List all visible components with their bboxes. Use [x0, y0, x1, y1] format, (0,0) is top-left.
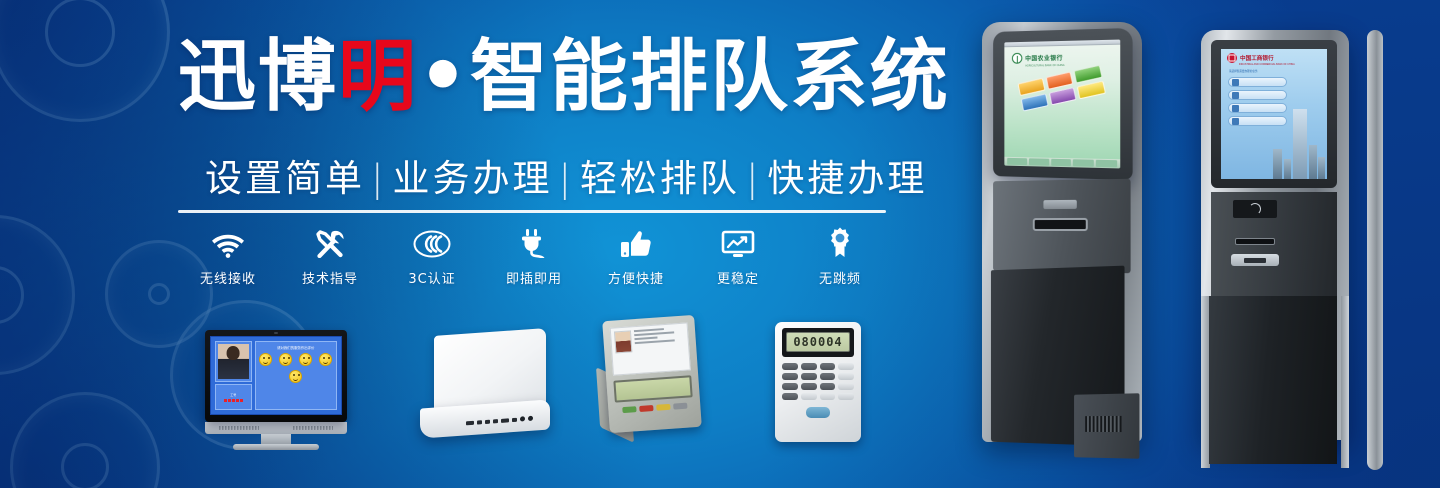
- keypad-enter-button[interactable]: [806, 407, 830, 418]
- title-highlight: 明: [338, 32, 418, 122]
- staff-name-card: 工号: [215, 384, 252, 410]
- emoji-face-icon[interactable]: [319, 353, 332, 366]
- product-showcase: 工号 请对我们的服务作出评价: [0, 310, 900, 470]
- kiosk-icbc-body: [1209, 296, 1337, 464]
- product-desk-evaluator: [598, 318, 704, 440]
- service-tile-grid[interactable]: [1018, 65, 1107, 112]
- feature-label: 方便快捷: [608, 268, 664, 287]
- vent-grille: [1085, 416, 1121, 432]
- emoji-face-icon[interactable]: [289, 370, 302, 383]
- avatar: [218, 344, 249, 379]
- plug-icon: [518, 222, 550, 258]
- banner-subtitle: 设置简单|业务办理|轻松排队|快捷办理: [205, 148, 927, 202]
- ticket-slot: [1235, 238, 1275, 245]
- rating-prompt: 请对我们的服务作出评价: [277, 345, 314, 350]
- kiosk-icbc-edge-right: [1341, 296, 1349, 468]
- header-divider: [178, 210, 886, 213]
- feature-item-stable: 更稳定: [688, 222, 788, 287]
- monitor-speaker-bar: [205, 422, 347, 434]
- subtitle-item-3: 快捷办理: [767, 157, 927, 200]
- queue-number-display: 080004: [793, 335, 842, 349]
- skyline-graphic: [1273, 105, 1325, 179]
- nfc-reader-icon[interactable]: [1233, 200, 1277, 218]
- feature-label: 3C认证: [408, 268, 455, 287]
- menu-item[interactable]: [1228, 77, 1287, 87]
- feature-label: 技术指导: [302, 268, 358, 287]
- title-part-2: 智能排队系统: [470, 32, 950, 122]
- kiosk-icbc-screen[interactable]: 中国工商银行 INDUSTRIAL AND COMMERCIAL BANK OF…: [1221, 49, 1327, 179]
- staff-panel: 工号: [215, 341, 252, 410]
- bank-name: 中国农业银行: [1025, 53, 1063, 63]
- evaluator-info-card: [610, 322, 691, 375]
- ccc-icon: [413, 222, 451, 258]
- ribbon-award-icon: [826, 222, 854, 258]
- evaluator-body: [602, 315, 702, 433]
- rating-stars: [224, 399, 243, 402]
- emoji-face-icon[interactable]: [299, 353, 312, 366]
- screen-bottom-bar: [1004, 157, 1120, 169]
- product-host-controller: [420, 332, 550, 442]
- feature-item-convenient: 方便快捷: [586, 222, 686, 287]
- evaluator-key-row[interactable]: [615, 402, 693, 413]
- kiosk-abc-base: [1074, 393, 1139, 459]
- feature-label: 即插即用: [506, 268, 562, 287]
- feature-label: 更稳定: [717, 268, 759, 287]
- monitor-chart-icon: [721, 222, 755, 258]
- feature-item-no-hopping: 无跳频: [790, 222, 890, 287]
- title-bullet: •: [418, 32, 470, 122]
- card-reader[interactable]: [1231, 254, 1279, 266]
- monitor-neck: [261, 434, 291, 444]
- staff-photo-card: [215, 341, 252, 382]
- staff-name-label: 工号: [230, 393, 236, 397]
- feature-label: 无线接收: [200, 268, 256, 287]
- tools-icon: [314, 222, 346, 258]
- icbc-logo: 中国工商银行: [1221, 49, 1327, 63]
- gear-icon-top: [0, 0, 170, 122]
- evaluator-lcd: [613, 375, 692, 402]
- evaluator-info-text: [634, 327, 687, 370]
- emoji-face-group: [258, 353, 334, 383]
- abc-logo: 中国农业银行: [1004, 45, 1120, 64]
- kiosk-abc-head: 中国农业银行 AGRICULTURAL BANK OF CHINA: [993, 28, 1132, 180]
- monitor-base: [233, 444, 319, 450]
- wifi-icon: [211, 222, 245, 258]
- kiosk-icbc-midsection: [1211, 192, 1337, 298]
- bank-name: 中国工商银行: [1240, 54, 1274, 62]
- subtitle-separator: |: [365, 157, 392, 200]
- product-evaluation-monitor: 工号 请对我们的服务作出评价: [205, 330, 347, 450]
- feature-item-tech-support: 技术指导: [280, 222, 380, 287]
- abc-logo-icon: [1012, 53, 1022, 64]
- emoji-face-icon[interactable]: [259, 353, 272, 366]
- feature-item-ccc: 3C认证: [382, 222, 482, 287]
- monitor-screen: 工号 请对我们的服务作出评价: [210, 336, 342, 415]
- rating-panel: 请对我们的服务作出评价: [255, 341, 337, 410]
- webcam-icon: [274, 332, 278, 334]
- kiosk-abc-brand-plate: [1043, 200, 1076, 209]
- kiosk-icbc: 中国工商银行 INDUSTRIAL AND COMMERCIAL BANK OF…: [1195, 30, 1375, 470]
- avatar: [614, 330, 632, 353]
- screen-hint-text: 请选择您需要办理的业务: [1221, 69, 1327, 73]
- feature-label: 无跳频: [819, 268, 861, 287]
- bank-subtitle: AGRICULTURAL BANK OF CHINA: [1004, 63, 1120, 68]
- subtitle-separator: |: [552, 157, 579, 200]
- ticket-slot: [1033, 218, 1088, 231]
- subtitle-item-2: 轻松排队: [580, 157, 740, 200]
- keypad-display-housing: 080004: [782, 328, 854, 357]
- kiosk-icbc-pillar: [1367, 30, 1383, 470]
- subtitle-separator: |: [740, 157, 767, 200]
- bank-subtitle: INDUSTRIAL AND COMMERCIAL BANK OF CHINA: [1221, 63, 1327, 66]
- product-queue-keypad-terminal: 080004: [775, 322, 861, 442]
- keypad-button-grid[interactable]: [782, 363, 854, 400]
- monitor-bezel: 工号 请对我们的服务作出评价: [205, 330, 347, 422]
- title-part-1: 迅博: [178, 32, 338, 122]
- subtitle-item-1: 业务办理: [392, 157, 552, 200]
- subtitle-item-0: 设置简单: [205, 157, 365, 200]
- thumbs-up-icon: [619, 222, 653, 258]
- menu-item[interactable]: [1228, 90, 1287, 100]
- keypad-body: 080004: [775, 322, 861, 442]
- promo-banner: 迅博明•智能排队系统 设置简单|业务办理|轻松排队|快捷办理 无线接收: [0, 0, 1440, 488]
- icbc-logo-icon: [1227, 53, 1237, 63]
- page-title: 迅博明•智能排队系统: [178, 38, 950, 116]
- feature-list: 无线接收 技术指导 3C认证: [178, 222, 890, 288]
- kiosk-icbc-head: 中国工商银行 INDUSTRIAL AND COMMERCIAL BANK OF…: [1211, 40, 1337, 188]
- banner-title-wrap: 迅博明•智能排队系统: [178, 38, 950, 116]
- keypad-lcd: 080004: [786, 332, 850, 352]
- feature-item-plug-and-play: 即插即用: [484, 222, 584, 287]
- kiosk-abc-midsection: [993, 179, 1131, 274]
- kiosk-abc-screen[interactable]: 中国农业银行 AGRICULTURAL BANK OF CHINA: [1004, 40, 1120, 169]
- emoji-face-icon[interactable]: [279, 353, 292, 366]
- kiosk-abc: 中国农业银行 AGRICULTURAL BANK OF CHINA: [960, 22, 1150, 472]
- feature-item-wireless: 无线接收: [178, 222, 278, 287]
